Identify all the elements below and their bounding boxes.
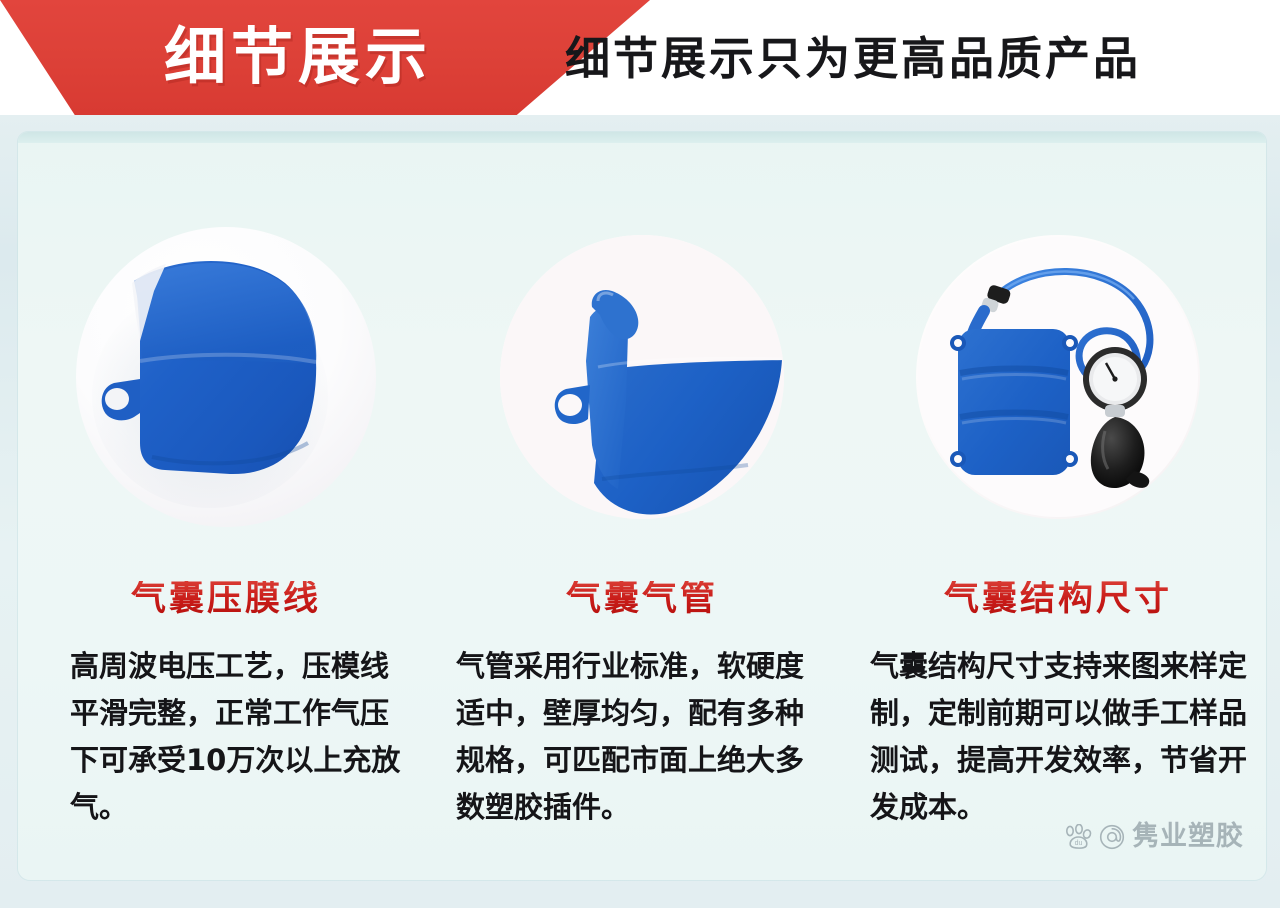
header-badge-label: 细节展示 [118,16,478,100]
feature-column-3: 气囊结构尺寸 气囊结构尺寸支持来图来样定制，定制前期可以做手工样品测试，提高开发… [850,143,1266,880]
feature-body-3: 气囊结构尺寸支持来图来样定制，定制前期可以做手工样品测试，提高开发效率，节省开发… [850,643,1266,831]
panel-top-strip [18,132,1266,143]
watermark-text: 隽业塑胶 [1132,823,1244,850]
feature-title-1: 气囊压膜线 [18,581,434,616]
airbag-structure-size-photo [902,221,1214,533]
airbag-air-tube-photo [486,221,798,533]
feature-column-2: 气囊气管 气管采用行业标准，软硬度适中，壁厚均匀，配有多种规格，可匹配市面上绝大… [434,143,850,880]
content-panel: 气囊压膜线 高周波电压工艺，压模线平滑完整，正常工作气压下可承受10万次以上充放… [18,132,1266,880]
svg-text:du: du [1075,840,1083,847]
airbag-pressed-seam-illustration [70,221,382,533]
baidu-paw-icon: du [1064,824,1092,850]
feature-title-3: 气囊结构尺寸 [850,581,1266,616]
feature-columns: 气囊压膜线 高周波电压工艺，压模线平滑完整，正常工作气压下可承受10万次以上充放… [18,143,1266,880]
feature-column-1: 气囊压膜线 高周波电压工艺，压模线平滑完整，正常工作气压下可承受10万次以上充放… [18,143,434,880]
at-sign-icon [1099,824,1125,850]
airbag-pressed-seam-photo [70,221,382,533]
feature-title-2: 气囊气管 [434,581,850,616]
airbag-air-tube-illustration [486,221,798,533]
airbag-structure-size-illustration [902,221,1214,533]
page-root: 细节展示 细节展示只为更高品质产品 [0,0,1280,908]
feature-body-2: 气管采用行业标准，软硬度适中，壁厚均匀，配有多种规格，可匹配市面上绝大多数塑胶插… [434,643,850,831]
header-subtitle: 细节展示只为更高品质产品 [565,26,1141,90]
watermark: du 隽业塑胶 [1064,823,1244,850]
feature-body-1: 高周波电压工艺，压模线平滑完整，正常工作气压下可承受10万次以上充放气。 [18,643,434,831]
page-header: 细节展示 细节展示只为更高品质产品 [0,0,1280,115]
